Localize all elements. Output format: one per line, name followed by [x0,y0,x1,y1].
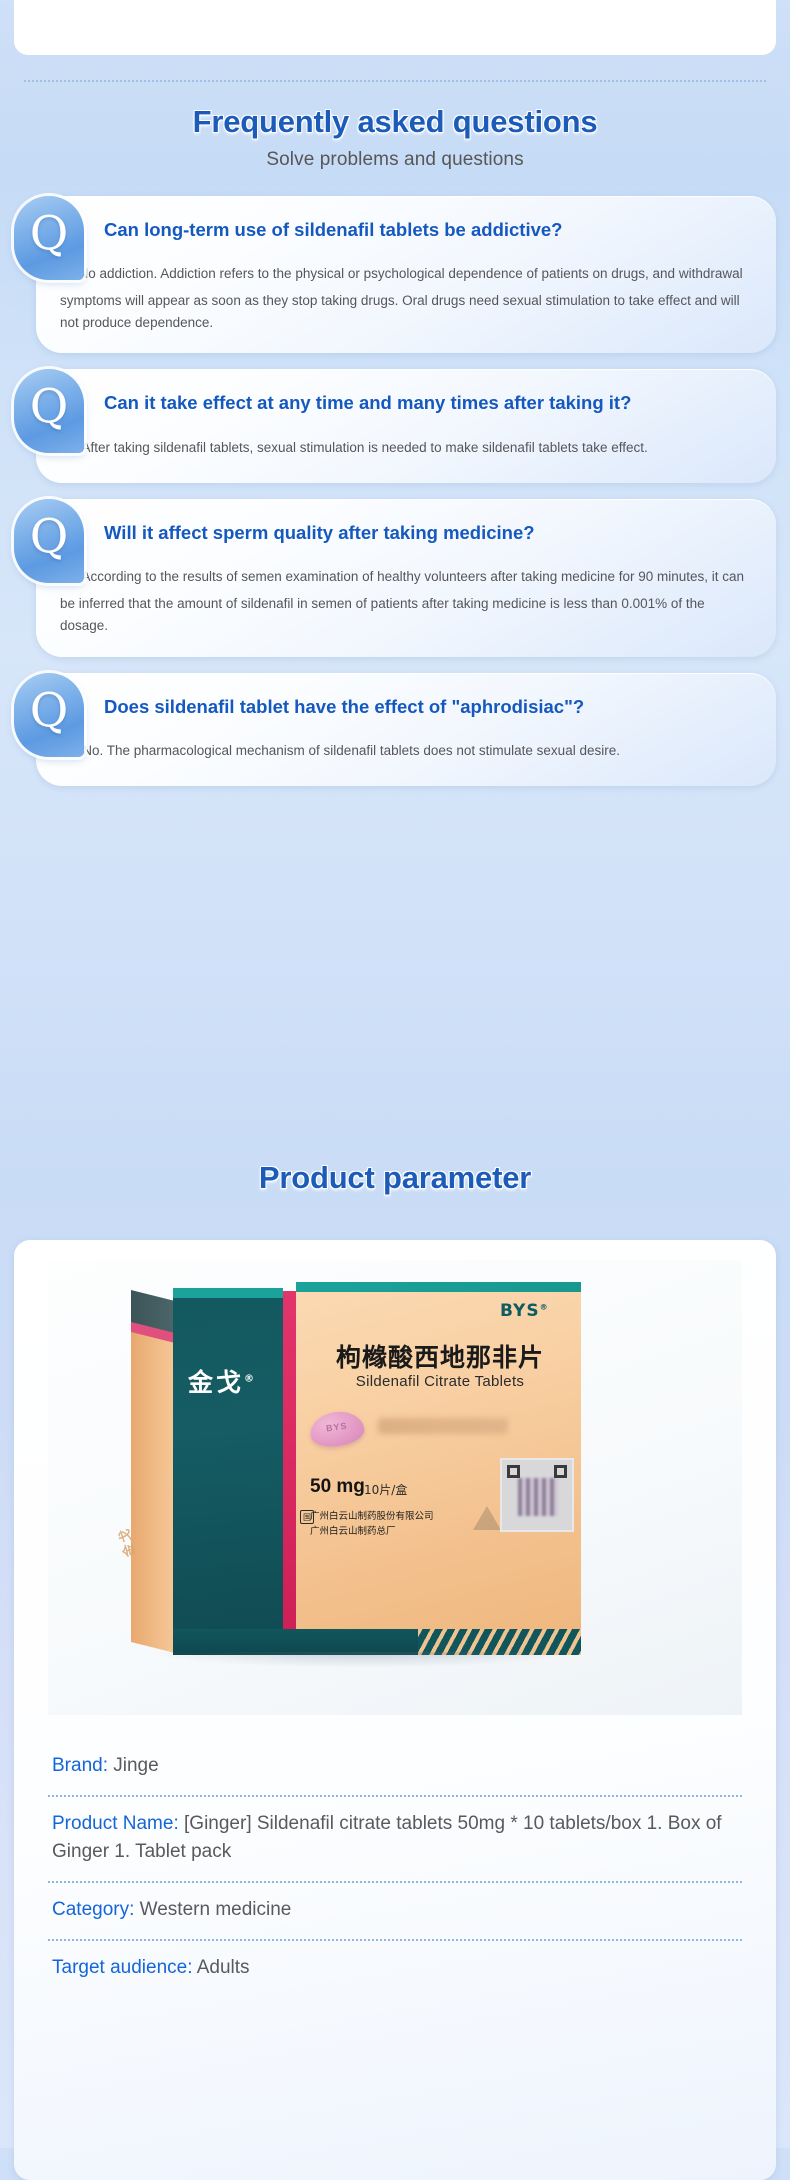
parameter-rows: Brand: Jinge Product Name: [Ginger] Sild… [48,1739,742,1998]
parameter-row-target-audience: Target audience: Adults [48,1941,742,1997]
package-company-logo-text: BYS [500,1301,540,1321]
top-panel [14,0,776,55]
parameter-value: Adults [193,1957,250,1978]
product-parameter-card: 金戈 金戈® BYS® 枸橼酸西地那非片 Sildenafil Citrate … [14,1240,776,2180]
question-badge-letter: Q [30,687,69,734]
faq-answer-text: : According to the results of semen exam… [60,569,744,632]
package-dose: 50 mg [310,1476,365,1498]
package-drop-shadow [148,1652,578,1668]
faq-card: Can it take effect at any time and many … [36,369,776,483]
question-badge-icon: Q [14,369,84,453]
parameter-row-product-name: Product Name: [Ginger] Sildenafil citrat… [48,1797,742,1883]
package-count: 10片/盒 [364,1481,407,1498]
faq-card: Will it affect sperm quality after takin… [36,499,776,656]
faq-list: Q Can long-term use of sildenafil tablet… [14,196,776,802]
package-left-panel [173,1296,283,1629]
parameter-value: Western medicine [134,1899,291,1920]
faq-card: Does sildenafil tablet have the effect o… [36,673,776,787]
package-triangle-icon [473,1506,501,1530]
question-badge-icon: Q [14,499,84,583]
question-badge-letter: Q [30,513,69,560]
product-section-header: Product parameter [0,1160,790,1196]
question-badge-icon: Q [14,196,84,280]
page-title: Frequently asked questions [0,104,790,140]
package-side-face [131,1317,173,1652]
faq-answer: A: No. The pharmacological mechanism of … [60,731,750,767]
faq-item[interactable]: Q Can it take effect at any time and man… [14,369,776,483]
package-company-logo: BYS® [500,1301,549,1321]
faq-answer: A:No addiction. Addiction refers to the … [60,254,750,333]
faq-answer-text: :No addiction. Addiction refers to the p… [60,266,743,329]
package-qr-code-icon [500,1458,574,1532]
package-brand-registered-mark: ® [244,1374,257,1385]
package-left-panel-top [173,1288,283,1298]
package-brand-logo: 金戈® [188,1363,257,1399]
parameter-label: Category: [52,1899,134,1920]
package-blurred-text [378,1418,508,1434]
product-section-title: Product parameter [0,1160,790,1196]
faq-answer-text: : No. The pharmacological mechanism of s… [75,743,620,758]
parameter-label: Brand: [52,1755,108,1776]
package-front-top-edge [296,1282,581,1292]
faq-answer: A: After taking sildenafil tablets, sexu… [60,428,750,464]
question-badge-letter: Q [30,383,69,430]
qr-pattern [518,1478,558,1516]
faq-section-header: Frequently asked questions Solve problem… [0,104,790,171]
parameter-row-category: Category: Western medicine [48,1883,742,1941]
page-subtitle: Solve problems and questions [0,149,790,171]
question-badge-letter: Q [30,210,69,257]
faq-item[interactable]: Q Can long-term use of sildenafil tablet… [14,196,776,353]
package-brand-logo-text: 金戈 [188,1368,244,1397]
qr-corner-marker [554,1465,567,1478]
faq-answer: A: According to the results of semen exa… [60,557,750,636]
package-company-registered-mark: ® [540,1302,549,1311]
package-pill-text: BYS [309,1418,364,1435]
package-magenta-stripe [283,1291,296,1631]
package-title-en: Sildenafil Citrate Tablets [310,1373,570,1390]
faq-card: Can long-term use of sildenafil tablets … [36,196,776,353]
question-badge-icon: Q [14,673,84,757]
panel-divider [24,80,766,82]
product-photo: 金戈 金戈® BYS® 枸橼酸西地那非片 Sildenafil Citrate … [48,1260,742,1715]
qr-corner-marker [507,1465,520,1478]
parameter-row-brand: Brand: Jinge [48,1739,742,1797]
faq-question: Can it take effect at any time and many … [104,391,750,414]
parameter-label: Target audience: [52,1957,193,1978]
faq-answer-text: : After taking sildenafil tablets, sexua… [75,440,648,455]
faq-question: Can long-term use of sildenafil tablets … [104,218,750,241]
parameter-value: Jinge [108,1755,159,1776]
parameter-label: Product Name: [52,1813,179,1834]
package-title-cn: 枸橼酸西地那非片 [310,1338,570,1374]
faq-question: Does sildenafil tablet have the effect o… [104,695,750,718]
faq-item[interactable]: Q Does sildenafil tablet have the effect… [14,673,776,787]
faq-question: Will it affect sperm quality after takin… [104,521,750,544]
faq-item[interactable]: Q Will it affect sperm quality after tak… [14,499,776,656]
